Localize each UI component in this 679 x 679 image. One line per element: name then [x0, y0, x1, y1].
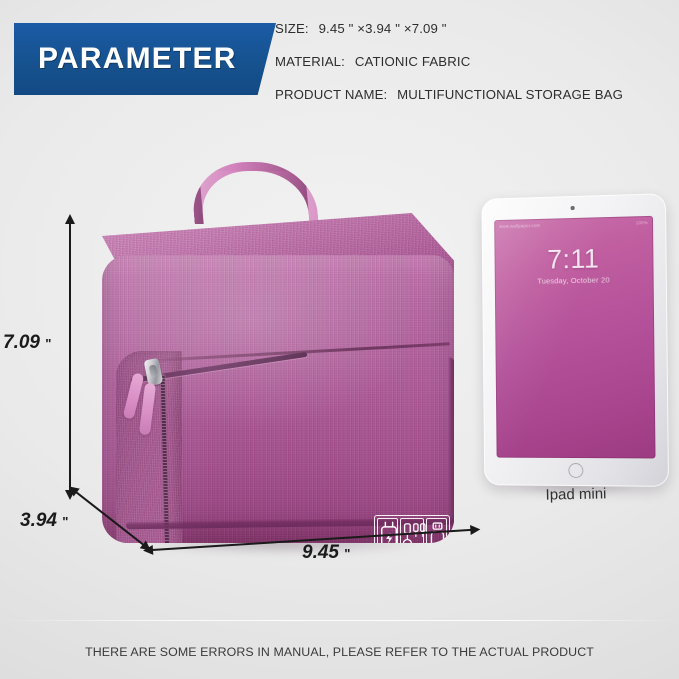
width-value: 9.45	[302, 542, 339, 563]
spec-value-product-name: MULTIFUNCTIONAL STORAGE BAG	[397, 87, 623, 102]
bag-top-seam	[140, 342, 450, 362]
storage-bag	[88, 163, 468, 563]
width-dimension-label: 9.45 "	[302, 542, 350, 564]
depth-value: 3.94	[20, 510, 57, 531]
zipper-pull-tab-2	[139, 383, 156, 436]
badge-cell-charger	[377, 518, 398, 543]
height-dimension-label: 7.09 "	[3, 332, 51, 354]
spec-label-material: MATERIAL:	[275, 54, 345, 69]
depth-unit: "	[62, 514, 68, 529]
spec-list: SIZE: 9.45 " ×3.94 " ×7.09 " MATERIAL: C…	[275, 22, 675, 102]
tablet-screen: www.wallpaper.com 100% 7:11 Tuesday, Oct…	[494, 216, 655, 459]
spec-row-product-name: PRODUCT NAME: MULTIFUNCTIONAL STORAGE BA…	[275, 88, 675, 101]
zipper-slider-icon	[144, 358, 164, 386]
lock-status-right: 100%	[636, 220, 648, 225]
zipper-track-vertical	[161, 375, 172, 543]
bag-icon-badge	[374, 515, 450, 543]
banner-title: PARAMETER	[38, 42, 237, 76]
height-dimension-arrow	[69, 223, 71, 491]
height-unit: "	[45, 336, 51, 351]
spec-sheet: PARAMETER SIZE: 9.45 " ×3.94 " ×7.09 " M…	[0, 0, 679, 679]
height-value: 7.09	[3, 332, 40, 353]
charger-plug-icon	[379, 520, 399, 543]
bag-right-trim	[448, 357, 454, 543]
bag-handle	[189, 162, 318, 224]
lock-screen-date: Tuesday, October 20	[495, 274, 654, 286]
tablet-caption: Ipad mini	[481, 484, 671, 505]
bag-bottom-trim	[126, 517, 454, 530]
product-scene: www.wallpaper.com 100% 7:11 Tuesday, Oct…	[0, 118, 679, 618]
spec-row-material: MATERIAL: CATIONIC FABRIC	[275, 55, 675, 68]
width-unit: "	[344, 546, 350, 561]
footer-disclaimer: THERE ARE SOME ERRORS IN MANUAL, PLEASE …	[0, 645, 679, 659]
header: PARAMETER SIZE: 9.45 " ×3.94 " ×7.09 " M…	[0, 0, 679, 118]
zipper-track-top	[131, 352, 308, 383]
parameter-banner: PARAMETER	[14, 23, 276, 95]
badge-cell-cables	[400, 518, 424, 543]
spec-value-material: CATIONIC FABRIC	[355, 54, 471, 69]
spec-row-size: SIZE: 9.45 " ×3.94 " ×7.09 "	[275, 22, 675, 35]
footer-divider	[0, 620, 679, 621]
bag-side-panel	[116, 351, 182, 543]
depth-dimension-label: 3.94 "	[20, 510, 68, 532]
zipper-teeth	[161, 375, 172, 543]
bag-front-panel	[102, 255, 454, 543]
lock-screen-time: 7:11	[494, 242, 653, 276]
zipper-pull-tab-1	[123, 372, 145, 419]
tablet-device: www.wallpaper.com 100% 7:11 Tuesday, Oct…	[481, 193, 669, 487]
spec-label-product-name: PRODUCT NAME:	[275, 87, 387, 102]
spec-label-size: SIZE:	[275, 21, 309, 36]
spec-value-size: 9.45 " ×3.94 " ×7.09 "	[319, 21, 447, 36]
lock-status-left: www.wallpaper.com	[499, 223, 540, 229]
tablet-camera-icon	[571, 206, 575, 210]
tablet-home-button-icon	[568, 463, 583, 478]
